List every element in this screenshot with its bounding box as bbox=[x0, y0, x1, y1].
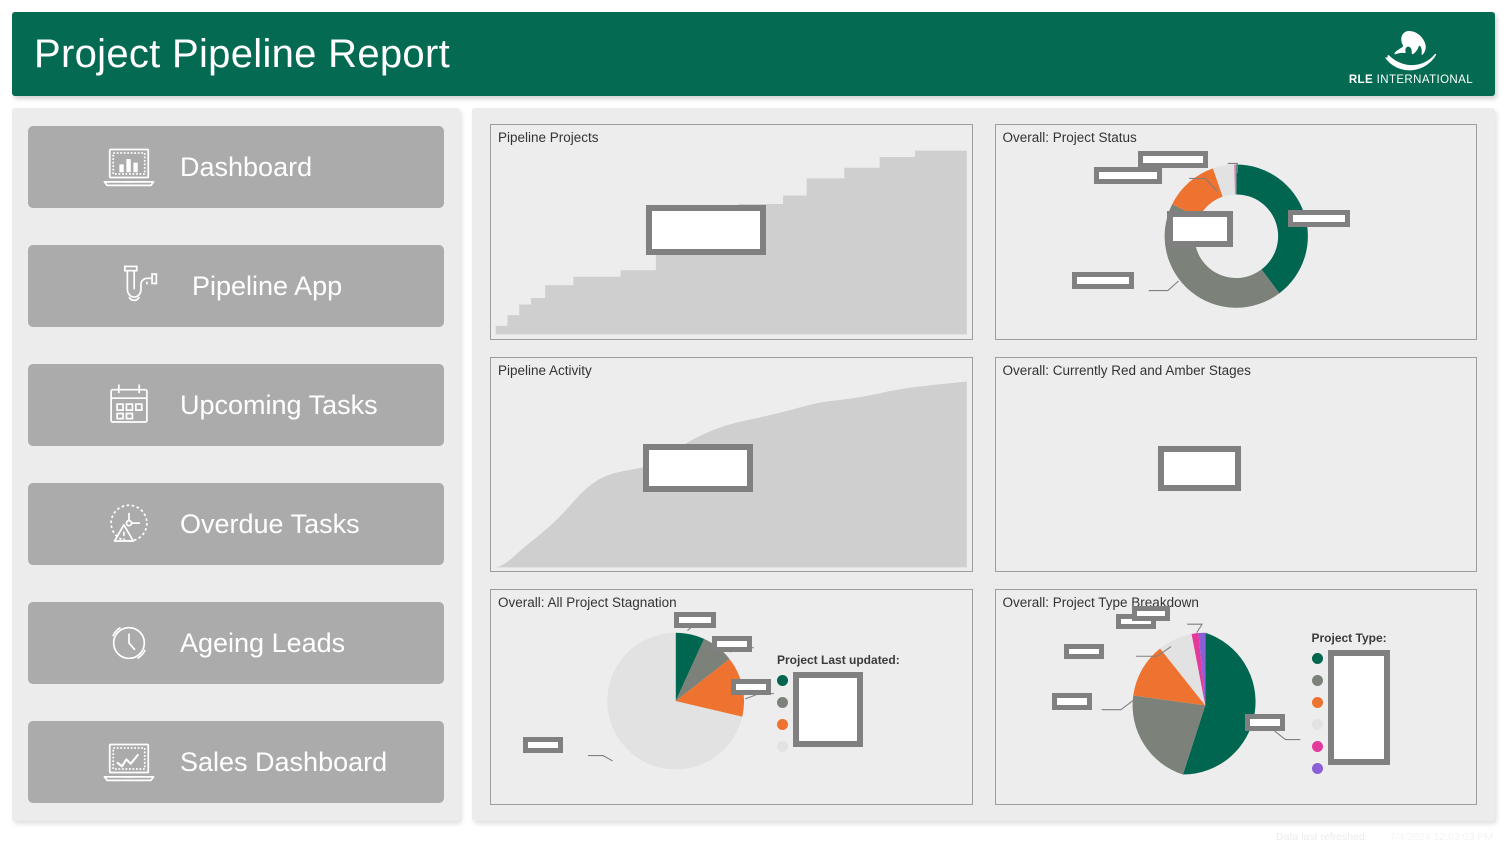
legend-labels-placeholder bbox=[793, 672, 863, 747]
footer-refresh-status: Data last refreshed: 7/4/2024 12:03:03 P… bbox=[1276, 831, 1493, 843]
app-header: Project Pipeline Report RLE INTERNATIONA… bbox=[12, 12, 1495, 96]
sidebar-item-label: Sales Dashboard bbox=[180, 747, 387, 778]
panel-title: Overall: Project Status bbox=[1003, 130, 1137, 145]
sidebar-item-label: Pipeline App bbox=[192, 271, 342, 302]
project-type-legend: Project Type: bbox=[1312, 631, 1390, 774]
brand-rest: INTERNATIONAL bbox=[1373, 74, 1473, 86]
legend-title: Project Last updated: bbox=[777, 653, 900, 667]
brand-logo: RLE INTERNATIONAL bbox=[1349, 23, 1495, 86]
sidebar-nav: Dashboard Pipeline App bbox=[12, 108, 460, 821]
donut-chart-svg bbox=[996, 125, 1477, 339]
sidebar-item-label: Overdue Tasks bbox=[180, 509, 360, 540]
callout-placeholder-right bbox=[1288, 210, 1350, 227]
center-kpi-placeholder bbox=[1167, 211, 1233, 247]
callout-placeholder-2 bbox=[1132, 606, 1170, 621]
panel-title: Overall: Currently Red and Amber Stages bbox=[1003, 363, 1251, 378]
panel-project-status: Overall: Project Status bbox=[995, 124, 1478, 340]
legend-dot-green bbox=[1312, 653, 1323, 664]
sidebar-item-label: Ageing Leads bbox=[180, 628, 345, 659]
panel-project-type-breakdown: Overall: Project Type Breakdown bbox=[995, 589, 1478, 805]
page-title: Project Pipeline Report bbox=[12, 32, 450, 77]
callout-placeholder-top bbox=[1138, 151, 1208, 168]
sidebar-item-dashboard[interactable]: Dashboard bbox=[28, 126, 444, 208]
panel-title: Overall: All Project Stagnation bbox=[498, 595, 677, 610]
legend-swatches bbox=[777, 672, 788, 752]
rle-figure-logo-icon bbox=[1375, 29, 1447, 73]
sidebar-item-overdue-tasks[interactable]: Overdue Tasks bbox=[28, 483, 444, 565]
legend-dot-magenta bbox=[1312, 741, 1323, 752]
pipe-trap-icon bbox=[106, 259, 176, 313]
clock-warning-icon bbox=[94, 497, 164, 551]
callout-placeholder-3 bbox=[731, 679, 771, 695]
callout-placeholder-1 bbox=[674, 612, 716, 628]
report-canvas: Pipeline Projects Overall: Project Statu… bbox=[472, 108, 1495, 821]
legend-dot-purple bbox=[1312, 763, 1323, 774]
sidebar-item-upcoming-tasks[interactable]: Upcoming Tasks bbox=[28, 364, 444, 446]
panel-title: Pipeline Activity bbox=[498, 363, 592, 378]
callout-placeholder-left bbox=[1094, 167, 1162, 184]
panel-project-stagnation: Overall: All Project Stagnation bbox=[490, 589, 973, 805]
sidebar-item-label: Upcoming Tasks bbox=[180, 390, 378, 421]
panel-pipeline-projects: Pipeline Projects bbox=[490, 124, 973, 340]
sidebar-item-ageing-leads[interactable]: Ageing Leads bbox=[28, 602, 444, 684]
callout-placeholder-2 bbox=[712, 636, 752, 652]
legend-labels-placeholder bbox=[1328, 650, 1390, 765]
loading-placeholder bbox=[646, 205, 766, 255]
legend-dot-green bbox=[777, 675, 788, 686]
brand-name: RLE INTERNATIONAL bbox=[1349, 74, 1473, 86]
sidebar-item-label: Dashboard bbox=[180, 152, 312, 183]
legend-dot-light-grey bbox=[777, 741, 788, 752]
callout-placeholder-4 bbox=[523, 737, 563, 753]
dashboard-page: Project Pipeline Report RLE INTERNATIONA… bbox=[0, 0, 1507, 847]
legend-swatches bbox=[1312, 650, 1323, 774]
brand-bold: RLE bbox=[1349, 74, 1373, 86]
panel-red-amber-stages: Overall: Currently Red and Amber Stages bbox=[995, 357, 1478, 573]
stagnation-legend: Project Last updated: bbox=[777, 653, 900, 752]
sidebar-item-pipeline-app[interactable]: Pipeline App bbox=[28, 245, 444, 327]
legend-title: Project Type: bbox=[1312, 631, 1390, 645]
legend-dot-orange bbox=[1312, 697, 1323, 708]
callout-placeholder-3 bbox=[1064, 644, 1104, 659]
legend-dot-grey bbox=[777, 697, 788, 708]
refresh-timestamp: 7/4/2024 12:03:03 PM bbox=[1390, 831, 1493, 843]
calendar-icon bbox=[94, 378, 164, 432]
legend-dot-light-grey bbox=[1312, 719, 1323, 730]
panel-title: Pipeline Projects bbox=[498, 130, 599, 145]
legend-dot-orange bbox=[777, 719, 788, 730]
refresh-label: Data last refreshed: bbox=[1276, 831, 1368, 843]
sidebar-item-sales-dashboard[interactable]: Sales Dashboard bbox=[28, 721, 444, 803]
panel-pipeline-activity: Pipeline Activity bbox=[490, 357, 973, 573]
laptop-line-chart-icon bbox=[94, 735, 164, 789]
loading-placeholder bbox=[643, 444, 753, 492]
loading-placeholder bbox=[1158, 446, 1241, 491]
laptop-bar-chart-icon bbox=[94, 140, 164, 194]
callout-placeholder-5 bbox=[1245, 714, 1285, 731]
callout-placeholder-bottom bbox=[1072, 272, 1134, 289]
legend-dot-grey bbox=[1312, 675, 1323, 686]
callout-placeholder-4 bbox=[1052, 693, 1092, 710]
clock-icon bbox=[94, 616, 164, 670]
project-status-donut-chart[interactable] bbox=[996, 125, 1477, 339]
